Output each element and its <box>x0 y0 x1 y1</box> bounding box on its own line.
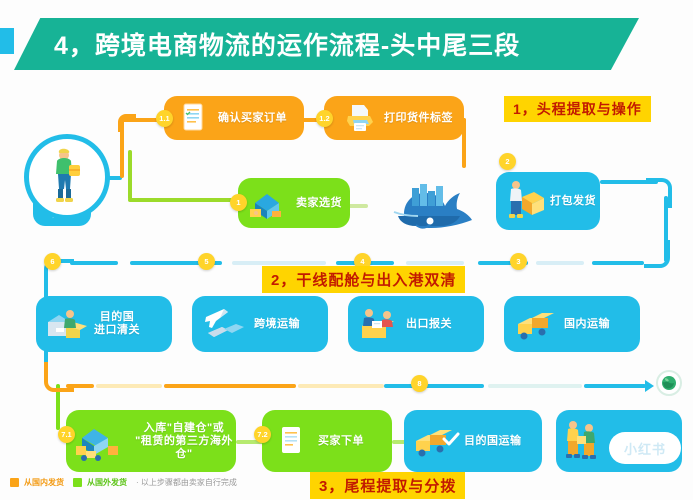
step-card-8-label: 目的国运输 <box>464 435 522 448</box>
step-badge-6: 6 <box>44 253 61 270</box>
step-card-5[interactable]: 跨境运输 <box>192 296 328 352</box>
page-title: 4，跨境电商物流的运作流程-头中尾三段 <box>54 26 520 62</box>
step-card-1-1[interactable]: 确认买家订单 <box>164 96 304 140</box>
watermark-bubble: 小红书 <box>609 432 681 464</box>
delivery-truck-icon <box>410 419 460 463</box>
customs-desk-icon <box>356 302 400 346</box>
step-badge-3: 3 <box>510 253 527 270</box>
step-badge-1-2: 1.2 <box>316 110 333 127</box>
step-card-1-label: 卖家选货 <box>296 197 342 210</box>
step-badge-7-1: 7.1 <box>58 426 75 443</box>
step-card-7-1[interactable]: 入库"自建仓"或 "租赁的第三方海外仓" <box>66 410 236 472</box>
connector-row3-seg-f <box>232 261 326 265</box>
order-form-icon <box>278 424 304 458</box>
connector-row3-seg-b <box>536 261 584 265</box>
connector-seller-down <box>128 150 132 200</box>
globe-icon <box>656 370 682 396</box>
connector-row3-seg-d <box>406 261 464 265</box>
step-card-7-2-label: 买家下单 <box>318 435 364 448</box>
connector-row3-seg-h <box>70 261 118 265</box>
section-label-3: 3，尾程提取与分拨 <box>310 472 465 499</box>
step-card-8[interactable]: 目的国运输 <box>404 410 542 472</box>
step-card-4-label: 出口报关 <box>406 318 452 331</box>
connector-corner-row2-right <box>646 178 672 208</box>
step-card-3-label: 国内运输 <box>564 318 610 331</box>
step-card-1-2[interactable]: 打印货件标签 <box>324 96 464 140</box>
step-card-2-label: 打包发货 <box>550 195 596 208</box>
step-card-7-1-label: 入库"自建仓"或 "租赁的第三方海外仓" <box>132 422 236 461</box>
step-card-2[interactable]: 打包发货 <box>496 172 600 230</box>
step-badge-5: 5 <box>198 253 215 270</box>
legend-swatch-overseas <box>73 478 82 487</box>
legend: 从国内发货 从国外发货 · 以上步骤都由卖家自行完成 <box>10 477 237 488</box>
slide-canvas: 4，跨境电商物流的运作流程-头中尾三段 <box>0 0 693 500</box>
connector-to-green-box <box>128 198 238 202</box>
step-card-4[interactable]: 出口报关 <box>348 296 484 352</box>
connector-row4-seg-c <box>164 384 296 388</box>
plane-ship-icon <box>200 303 248 345</box>
step-card-6-label: 目的国 进口清关 <box>94 311 140 337</box>
connector-row4-seg-f <box>424 384 484 388</box>
connector-green-to-whale <box>348 204 368 208</box>
printer-icon <box>342 101 376 135</box>
warehouse-forklift-icon <box>72 416 128 466</box>
step-card-5-label: 跨境运输 <box>254 318 300 331</box>
legend-note: · 以上步骤都由卖家自行完成 <box>136 477 237 488</box>
legend-label-overseas: 从国外发货 <box>87 477 127 488</box>
step-card-1[interactable]: 卖家选货 <box>238 178 350 228</box>
section-label-1: 1，头程提取与操作 <box>504 96 651 122</box>
connector-row4-seg-d <box>298 384 384 388</box>
banner-accent-tab <box>0 28 14 54</box>
person-with-box-icon <box>49 147 83 205</box>
step-badge-7-2: 7.2 <box>254 426 271 443</box>
step-card-3[interactable]: 国内运输 <box>504 296 640 352</box>
legend-label-domestic: 从国内发货 <box>24 477 64 488</box>
step-badge-1: 1 <box>230 194 247 211</box>
warehouse-icon <box>246 183 288 223</box>
truck-icon <box>512 304 558 344</box>
connector-corner-into-row4 <box>44 362 74 392</box>
packing-icon <box>502 177 546 225</box>
title-banner: 4，跨境电商物流的运作流程-头中尾三段 <box>14 18 639 70</box>
start-node-circle[interactable] <box>24 134 110 220</box>
arrow-head-icon <box>645 380 654 392</box>
connector-row4-seg-g <box>488 384 582 388</box>
step-card-1-1-label: 确认买家订单 <box>218 112 287 125</box>
step-badge-2: 2 <box>499 153 516 170</box>
checklist-icon <box>180 102 206 134</box>
connector-row4-seg-h <box>584 384 646 388</box>
connector-row4-seg-b <box>96 384 162 388</box>
section-label-2: 2，干线配舱与出入港双清 <box>262 266 465 293</box>
watermark-text: 小红书 <box>624 439 666 458</box>
legend-swatch-domestic <box>10 478 19 487</box>
step-card-7-2[interactable]: 买家下单 <box>262 410 392 472</box>
step-card-6[interactable]: 目的国 进口清关 <box>36 296 172 352</box>
connector-row3-seg-a <box>592 261 644 265</box>
connector-corner-into-row3 <box>644 240 670 268</box>
step-badge-1-1: 1.1 <box>156 110 173 127</box>
inspection-icon <box>44 302 86 346</box>
whale-container-icon <box>388 170 478 236</box>
step-badge-8: 8 <box>411 375 428 392</box>
connector-corner-row1 <box>118 114 136 132</box>
watermark: 小红书 <box>589 426 685 470</box>
step-card-1-2-label: 打印货件标签 <box>384 112 453 125</box>
